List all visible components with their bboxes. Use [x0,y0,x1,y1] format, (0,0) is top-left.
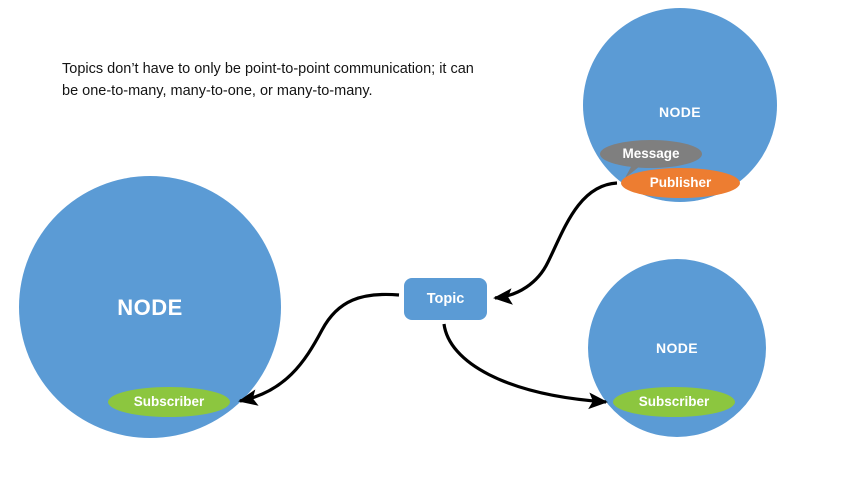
topic-box[interactable] [404,278,487,320]
subscriber-pill-right[interactable] [613,387,735,417]
subscriber-pill-left[interactable] [108,387,230,417]
publisher-pill[interactable] [621,168,740,198]
diagram-canvas: Topics don’t have to only be point-to-po… [0,0,854,480]
arrow-topic-to-subscriber-right [444,324,606,402]
shapes-layer [0,0,854,480]
arrow-publisher-to-topic [495,183,617,298]
